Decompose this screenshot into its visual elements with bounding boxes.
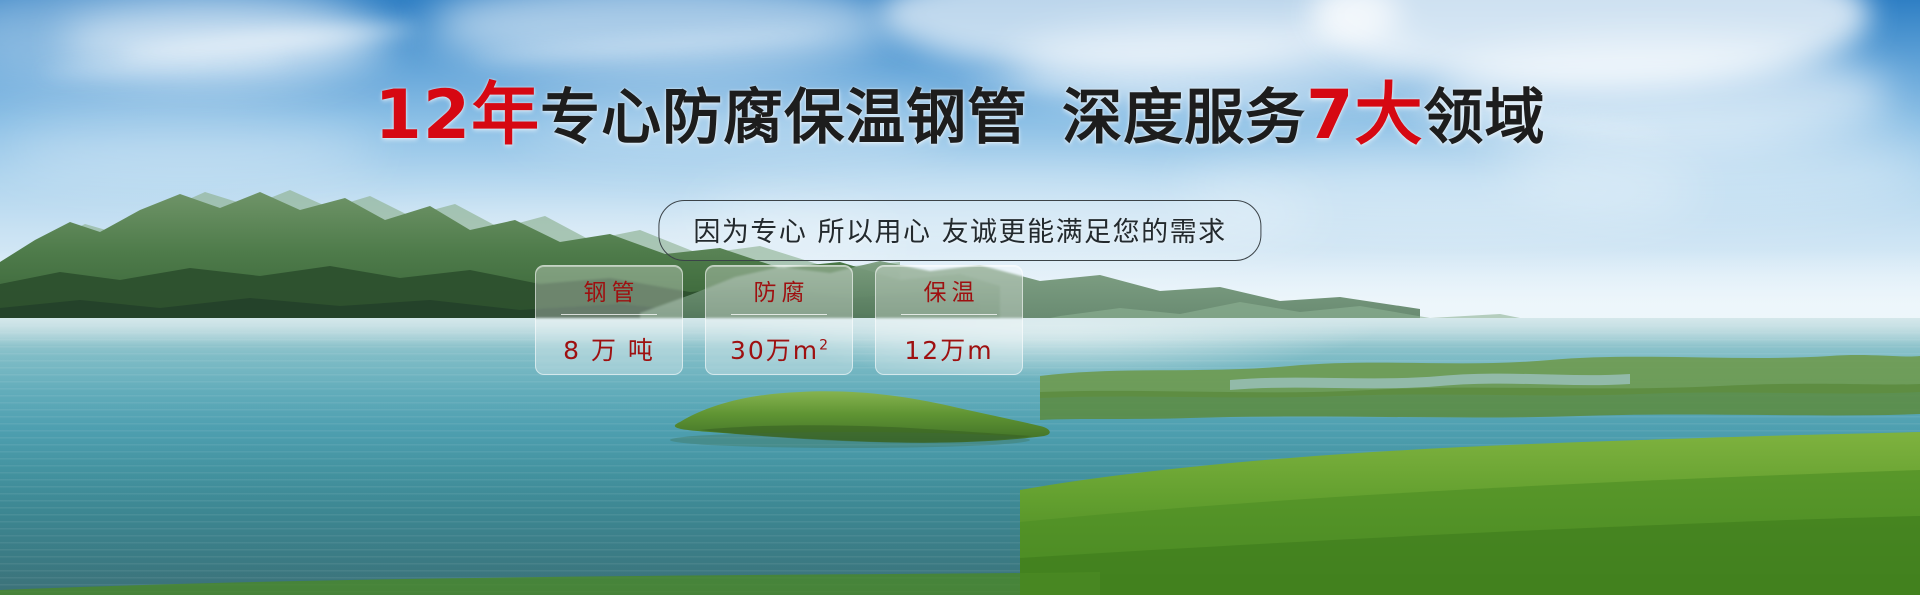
hero-banner: 12年专心防腐保温钢管深度服务7大领域 因为专心 所以用心 友诚更能满足您的需求… [0,0,1920,595]
stat-card-insulation[interactable]: 保温 12万m [875,265,1023,375]
headline-fields: 领域 [1423,83,1545,153]
stat-value-text: 30万m [730,336,819,365]
headline-focus: 专心防腐保温钢管 [540,83,1028,153]
stat-card-value: 8 万 吨 [563,331,655,367]
headline-years: 12年 [375,76,541,155]
stat-value-text: 12万m [904,336,993,365]
headline: 12年专心防腐保温钢管深度服务7大领域 [0,82,1920,150]
stat-card-anticorrosion[interactable]: 防腐 30万m2 [705,265,853,375]
stat-card-group: 钢管 8 万 吨 防腐 30万m2 保温 12万m [535,265,1023,375]
subtitle-pill: 因为专心 所以用心 友诚更能满足您的需求 [658,200,1261,261]
stat-card-label: 钢管 [579,273,640,319]
stat-card-label: 保温 [919,273,980,319]
stat-card-steel-pipe[interactable]: 钢管 8 万 吨 [535,265,683,375]
stat-card-value: 30万m2 [730,331,828,367]
headline-seven: 7大 [1306,76,1423,155]
headline-service: 深度服务 [1062,83,1306,153]
stat-value-text: 8 万 吨 [563,336,655,365]
stat-card-value: 12万m [904,331,993,367]
subtitle-text: 因为专心 所以用心 友诚更能满足您的需求 [693,217,1226,248]
stat-value-superscript: 2 [819,338,828,354]
stat-card-label: 防腐 [749,273,810,319]
